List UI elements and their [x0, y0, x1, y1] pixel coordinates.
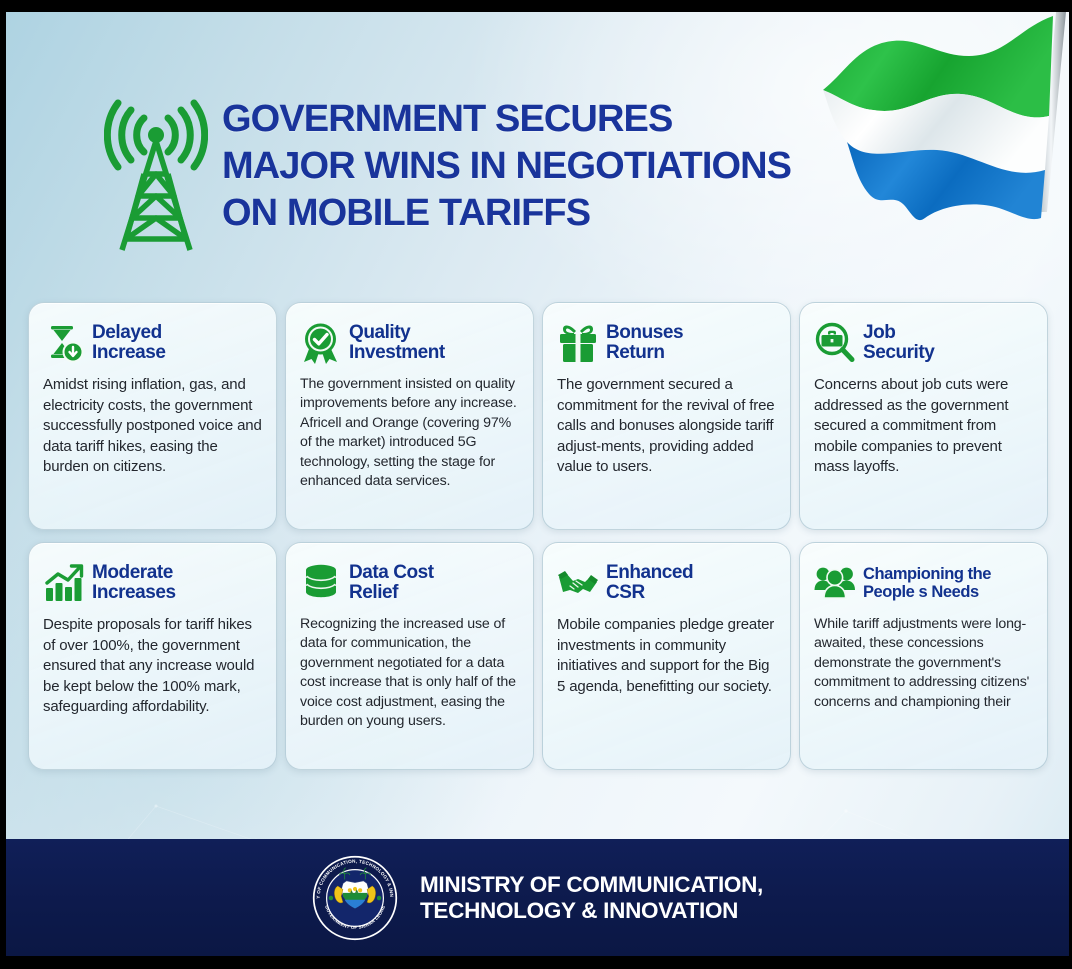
card-title-line-1: Job: [863, 322, 895, 343]
card-body: The government secured a commitment for …: [557, 375, 776, 478]
card-title: Championing the People s Needs: [863, 565, 991, 601]
benefits-row-1: Delayed Increase Amidst rising inflation…: [28, 302, 1050, 530]
card-title-line-2: Security: [863, 342, 934, 363]
card-title-line-1: Data Cost: [349, 562, 434, 583]
headline-line-1: GOVERNMENT SECURES: [222, 96, 862, 143]
card-title-line-2: Relief: [349, 582, 398, 603]
card-header: Quality Investment: [300, 319, 519, 367]
card-header: Bonuses Return: [557, 319, 776, 367]
card-title-line-1: Delayed: [92, 322, 162, 343]
card-title-line-2: Investment: [349, 342, 445, 363]
card-body: Mobile companies pledge greater investme…: [557, 615, 776, 697]
card-title: Bonuses Return: [606, 323, 683, 363]
card-job-security[interactable]: Job Security Concerns about job cuts wer…: [799, 302, 1048, 530]
frame-bar-left: [0, 0, 6, 969]
card-title: Quality Investment: [349, 323, 445, 363]
card-enhanced-csr[interactable]: Enhanced CSR Mobile companies pledge gre…: [542, 542, 791, 770]
card-header: Data Cost Relief: [300, 559, 519, 607]
cell-tower-icon: [104, 94, 208, 254]
sierra-leone-coat-of-arms-seal-icon: MINISTRY OF COMMUNICATION, TECHNOLOGY & …: [312, 855, 398, 941]
handshake-icon: [557, 562, 599, 604]
card-body: The government insisted on quality impro…: [300, 375, 519, 491]
card-body: Despite proposals for tariff hikes of ov…: [43, 615, 262, 718]
gift-box-icon: [557, 322, 599, 364]
card-body: While tariff adjustments were long-await…: [814, 615, 1033, 712]
card-title: Moderate Increases: [92, 563, 176, 603]
headline-line-2: MAJOR WINS IN NEGOTIATIONS: [222, 143, 862, 190]
poster-header: GOVERNMENT SECURES MAJOR WINS IN NEGOTIA…: [6, 12, 1069, 280]
card-header: Moderate Increases: [43, 559, 262, 607]
bar-chart-up-icon: [43, 562, 85, 604]
card-body: Recognizing the increased use of data fo…: [300, 615, 519, 731]
card-quality-investment[interactable]: Quality Investment The government insist…: [285, 302, 534, 530]
card-title-line-2: Increase: [92, 342, 166, 363]
card-title-line-1: Moderate: [92, 562, 173, 583]
hourglass-down-arrow-icon: [43, 322, 85, 364]
card-body: Concerns about job cuts were addressed a…: [814, 375, 1033, 478]
poster-footer: MINISTRY OF COMMUNICATION, TECHNOLOGY & …: [6, 839, 1069, 956]
card-title-line-1: Enhanced: [606, 562, 693, 583]
poster-canvas: GOVERNMENT SECURES MAJOR WINS IN NEGOTIA…: [6, 12, 1069, 956]
benefits-grid: Delayed Increase Amidst rising inflation…: [28, 302, 1050, 782]
card-title: Enhanced CSR: [606, 563, 693, 603]
briefcase-magnifier-icon: [814, 322, 856, 364]
card-title-line-2: Return: [606, 342, 665, 363]
card-title: Job Security: [863, 323, 934, 363]
card-body: Amidst rising inflation, gas, and electr…: [43, 375, 262, 478]
card-title-line-1: Championing the: [863, 565, 991, 583]
sierra-leone-flag-icon: [809, 12, 1069, 234]
infographic-poster: GOVERNMENT SECURES MAJOR WINS IN NEGOTIA…: [0, 0, 1072, 969]
card-title: Delayed Increase: [92, 323, 166, 363]
card-title-line-2: Increases: [92, 582, 176, 603]
page-title: GOVERNMENT SECURES MAJOR WINS IN NEGOTIA…: [222, 96, 862, 237]
card-header: Delayed Increase: [43, 319, 262, 367]
card-header: Enhanced CSR: [557, 559, 776, 607]
card-bonuses-return[interactable]: Bonuses Return The government secured a …: [542, 302, 791, 530]
card-title-line-2: CSR: [606, 582, 645, 603]
card-title: Data Cost Relief: [349, 563, 434, 603]
ministry-name: MINISTRY OF COMMUNICATION, TECHNOLOGY & …: [420, 872, 763, 924]
ministry-line-1: MINISTRY OF COMMUNICATION,: [420, 872, 763, 898]
card-moderate-increases[interactable]: Moderate Increases Despite proposals for…: [28, 542, 277, 770]
card-championing-peoples-needs[interactable]: Championing the People s Needs While tar…: [799, 542, 1048, 770]
card-header: Championing the People s Needs: [814, 559, 1033, 607]
benefits-row-2: Moderate Increases Despite proposals for…: [28, 542, 1050, 770]
card-header: Job Security: [814, 319, 1033, 367]
frame-bar-bottom: [0, 956, 1072, 969]
card-title-line-1: Quality: [349, 322, 410, 343]
card-delayed-increase[interactable]: Delayed Increase Amidst rising inflation…: [28, 302, 277, 530]
headline-line-3: ON MOBILE TARIFFS: [222, 190, 862, 237]
quality-badge-check-icon: [300, 322, 342, 364]
people-group-icon: [814, 562, 856, 604]
card-data-cost-relief[interactable]: Data Cost Relief Recognizing the increas…: [285, 542, 534, 770]
card-title-line-1: Bonuses: [606, 322, 683, 343]
database-stack-icon: [300, 562, 342, 604]
card-title-line-2: People s Needs: [863, 583, 979, 601]
ministry-line-2: TECHNOLOGY & INNOVATION: [420, 898, 763, 924]
frame-bar-top: [0, 0, 1072, 12]
